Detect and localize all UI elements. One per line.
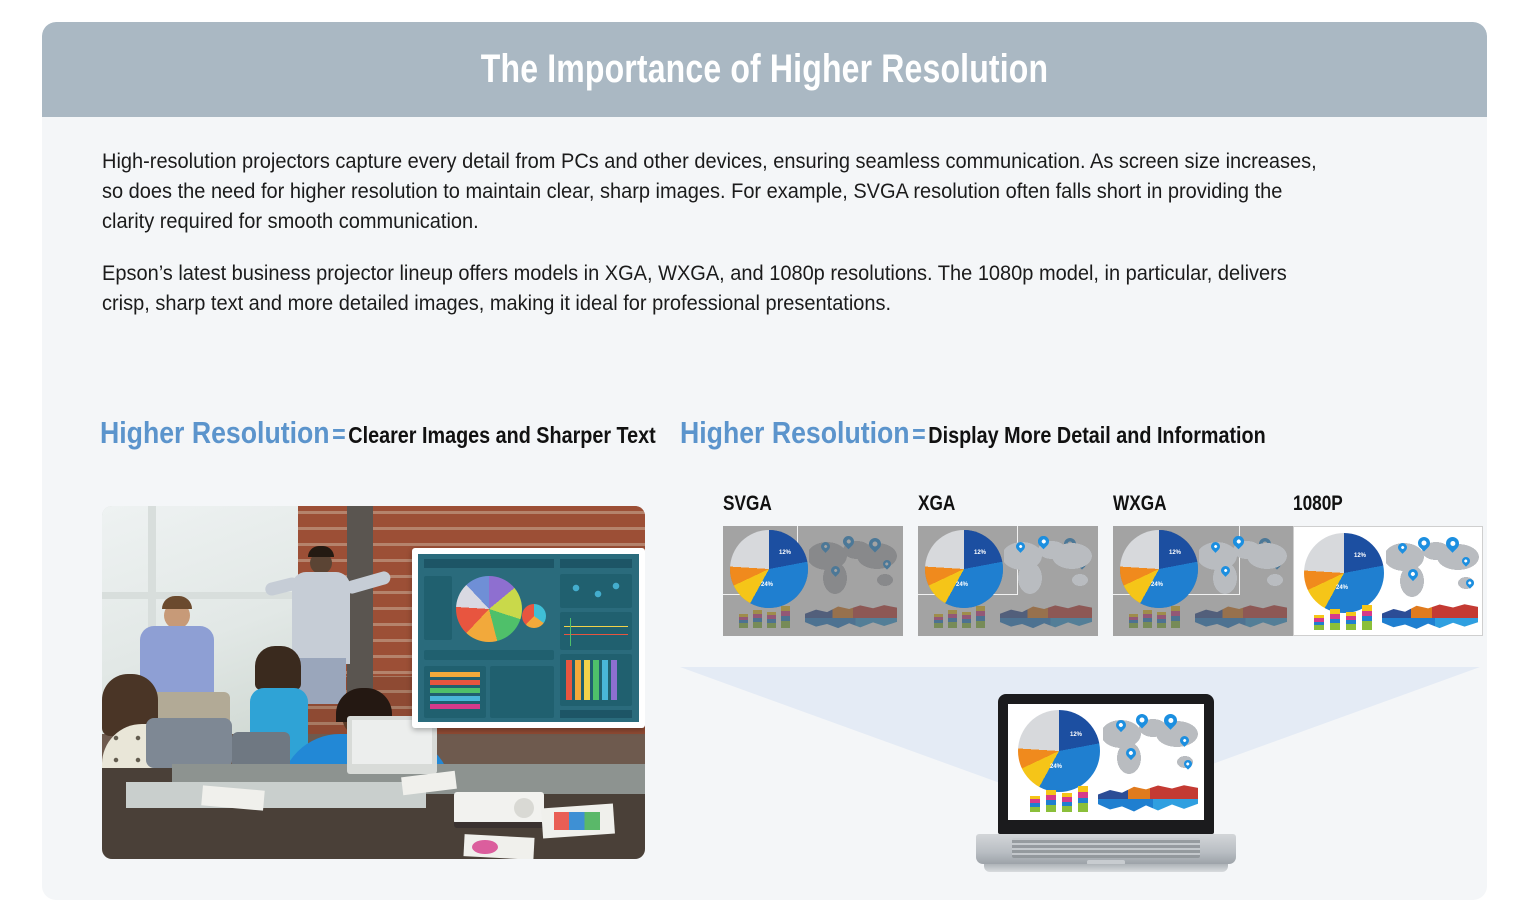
resolution-thumbnail: 12% 24%	[918, 526, 1098, 636]
dashboard-on-laptop: 12% 24%	[1008, 704, 1204, 820]
laptop-base	[984, 864, 1228, 872]
photo-projector-lens	[514, 798, 534, 818]
content-card: The Importance of Higher Resolution High…	[42, 22, 1487, 900]
clear-region: 12% 24%	[918, 526, 1017, 594]
resolution-comparison: SVGA 12% 24%	[680, 492, 1480, 667]
laptop-device: 12% 24%	[970, 694, 1242, 886]
heading-equals: =	[910, 419, 929, 449]
laptop-keyboard	[1012, 838, 1200, 858]
presenter-hair	[308, 546, 334, 557]
dashboard-preview: 12% 24%	[1294, 527, 1482, 635]
section-heading-right: Higher Resolution=Display More Detail an…	[680, 415, 1266, 451]
section-heading-left: Higher Resolution=Clearer Images and Sha…	[100, 415, 656, 451]
resolution-label: 1080P	[1293, 492, 1343, 516]
heading-subject: Clearer Images and Sharper Text	[348, 422, 655, 448]
laptop-screen: 12% 24%	[1008, 704, 1204, 820]
dashboard-clear: 12% 24%	[723, 526, 797, 594]
attendee-2-hair	[255, 646, 301, 690]
resolution-thumbnail: 12% 24%	[723, 526, 903, 636]
heading-prefix: Higher Resolution	[100, 415, 330, 450]
meeting-room-photo	[102, 506, 645, 859]
dashboard-clear: 12% 24%	[1113, 526, 1239, 594]
resolution-label: WXGA	[1113, 492, 1167, 516]
heading-equals: =	[330, 419, 349, 449]
header-bar: The Importance of Higher Resolution	[42, 22, 1487, 117]
paper-pie	[472, 840, 498, 854]
chair-1	[146, 718, 232, 768]
presenter-body	[292, 572, 350, 664]
page-root: The Importance of Higher Resolution High…	[0, 0, 1516, 924]
dashboard-clear: 12% 24%	[918, 526, 1017, 594]
paragraph-2: Epson’s latest business projector lineup…	[102, 258, 1339, 318]
body-copy: High-resolution projectors capture every…	[102, 146, 1432, 318]
page-title: The Importance of Higher Resolution	[187, 22, 1343, 117]
clear-region: 12% 24%	[723, 526, 797, 594]
heading-subject: Display More Detail and Information	[928, 422, 1265, 448]
paragraph-1: High-resolution projectors capture every…	[102, 146, 1339, 236]
paper-chart-colors	[554, 812, 600, 830]
heading-prefix: Higher Resolution	[680, 415, 910, 450]
resolution-thumbnail: 12% 24%	[1113, 526, 1293, 636]
resolution-thumbnail: 12% 24%	[1293, 526, 1483, 636]
resolution-label: XGA	[918, 492, 955, 516]
resolution-label: SVGA	[723, 492, 772, 516]
clear-region: 12% 24%	[1113, 526, 1239, 594]
projection-screen-content	[418, 554, 639, 722]
